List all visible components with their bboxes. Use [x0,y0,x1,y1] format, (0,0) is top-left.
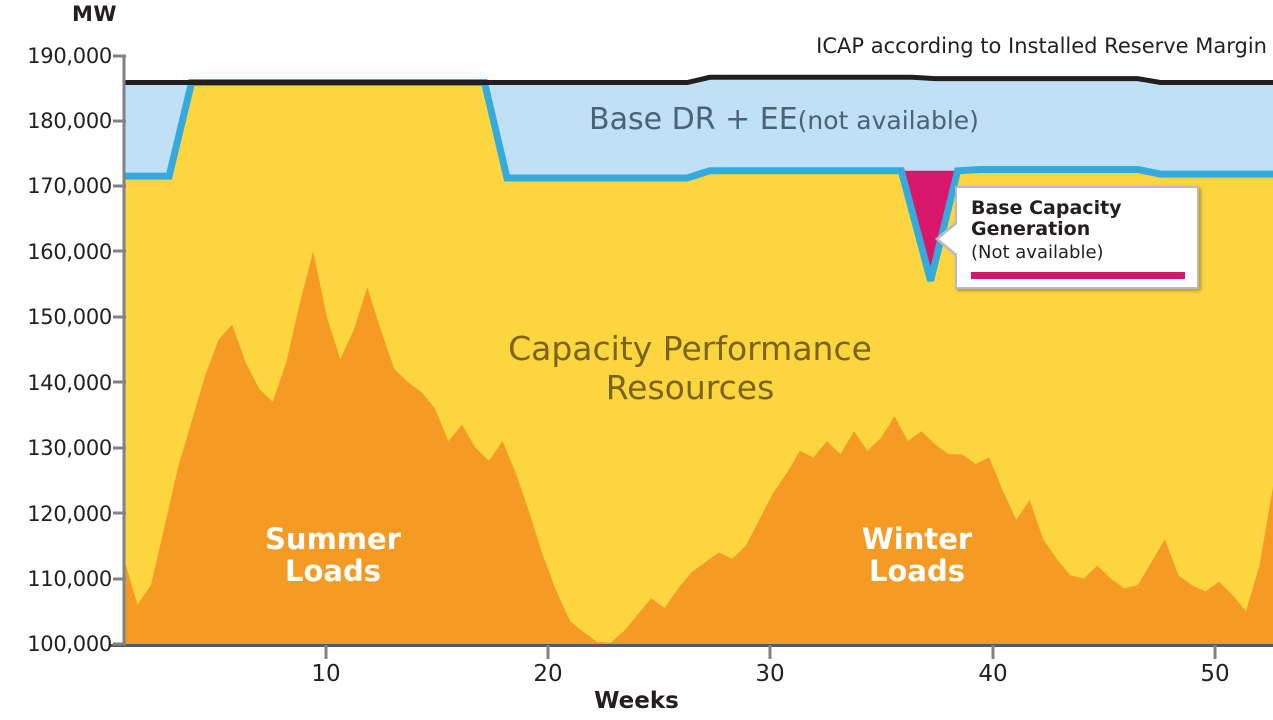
y-tick-label-120000: 120,000 [0,502,112,526]
x-axis-title: Weeks [0,688,1273,714]
capacity-performance-resources-label: Capacity Performance Resources [470,330,910,408]
callout-color-swatch [971,272,1185,279]
x-tick-label-50: 50 [1185,661,1245,687]
y-tick-label-100000: 100,000 [0,632,112,656]
y-tick-label-180000: 180,000 [0,109,112,133]
y-axis-unit-label: MW [72,2,117,26]
y-tick-label-140000: 140,000 [0,371,112,395]
x-tick-marks [326,645,1215,659]
cpr-label-line2: Resources [470,369,910,408]
y-tick-label-150000: 150,000 [0,305,112,329]
callout-title-line1: Base Capacity [971,198,1185,219]
y-tick-label-170000: 170,000 [0,174,112,198]
x-tick-label-20: 20 [518,661,578,687]
callout-subtitle: (Not available) [971,242,1185,264]
y-tick-label-160000: 160,000 [0,240,112,264]
base-dr-ee-main-text: Base DR + EE [589,102,798,137]
x-tick-label-10: 10 [296,661,356,687]
callout-tail [939,224,957,254]
x-tick-label-40: 40 [963,661,1023,687]
y-tick-label-130000: 130,000 [0,436,112,460]
y-tick-label-190000: 190,000 [0,44,112,68]
winter-loads-line2: Loads [797,556,1037,588]
icap-annotation-label: ICAP according to Installed Reserve Marg… [816,34,1267,58]
x-tick-label-30: 30 [740,661,800,687]
base-dr-ee-paren-text: (not available) [798,106,979,135]
base-capacity-generation-callout: Base Capacity Generation (Not available) [955,186,1199,289]
cpr-label-line1: Capacity Performance [470,330,910,369]
summer-loads-label: Summer Loads [213,524,453,588]
base-dr-ee-annotation-label: Base DR + EE(not available) [589,102,979,137]
summer-loads-line1: Summer [213,524,453,556]
winter-loads-label: Winter Loads [797,524,1037,588]
y-tick-label-110000: 110,000 [0,567,112,591]
callout-title: Base Capacity Generation [971,198,1185,241]
summer-loads-line2: Loads [213,556,453,588]
winter-loads-line1: Winter [797,524,1037,556]
callout-title-line2: Generation [971,219,1185,240]
chart-container: MW 190,000 180,000 170,000 160,000 150,0… [0,0,1273,720]
